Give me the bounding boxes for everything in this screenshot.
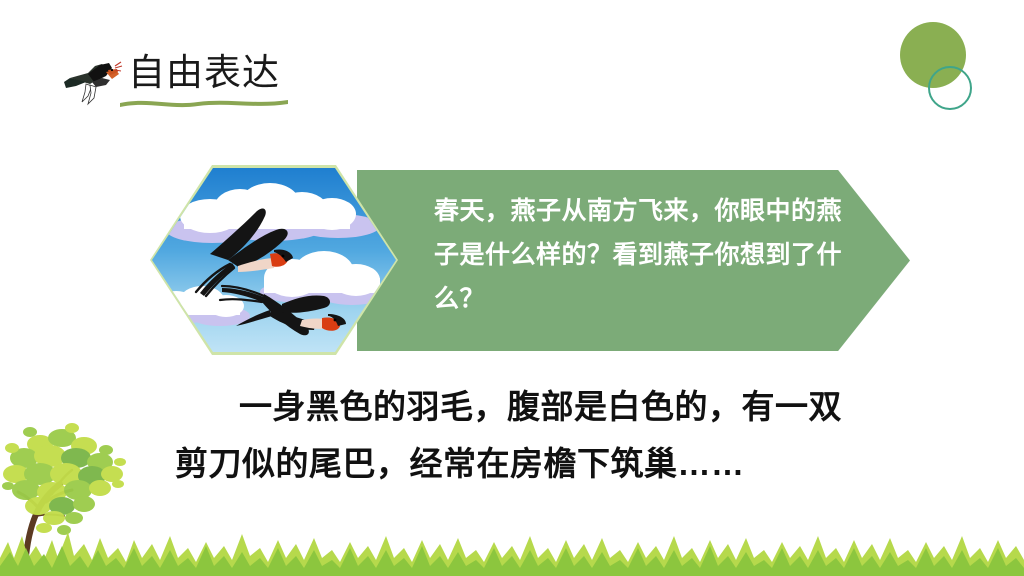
body-answer-text: 一身黑色的羽毛，腹部是白色的，有一双剪刀似的尾巴，经常在房檐下筑巢……	[175, 378, 875, 492]
question-banner: 春天，燕子从南方飞来，你眼中的燕子是什么样的？看到燕子你想到了什么？	[150, 165, 910, 355]
banner-question-text: 春天，燕子从南方飞来，你眼中的燕子是什么样的？看到燕子你想到了什么？	[434, 189, 866, 321]
page-title-block: 自由表达	[62, 50, 482, 120]
circle-decoration-outline-icon	[928, 66, 972, 110]
slide-canvas: 自由表达	[0, 0, 1024, 576]
page-title: 自由表达	[128, 50, 280, 96]
grass-border-icon	[0, 514, 1024, 576]
title-underline-wave-icon	[118, 96, 290, 108]
